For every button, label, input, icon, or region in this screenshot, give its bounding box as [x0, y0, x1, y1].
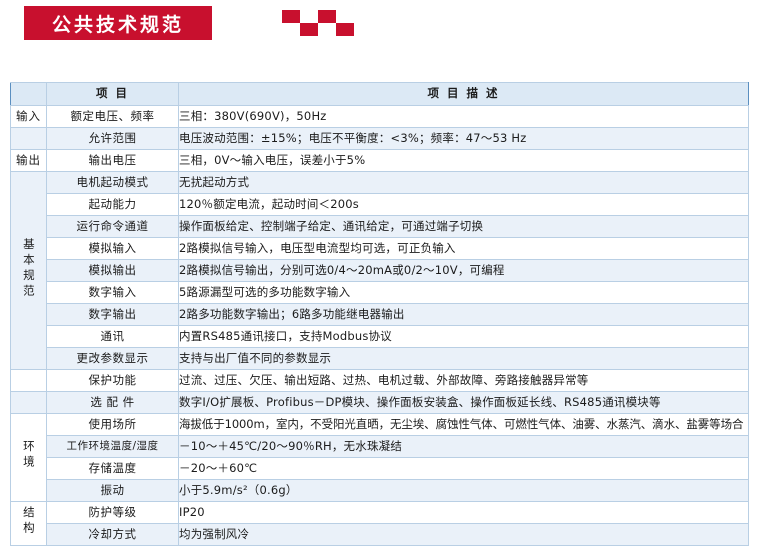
table-row: 输出 输出电压 三相，0V～输入电压，误差小于5% — [11, 150, 749, 172]
desc-cell: 三相：380V(690V)，50Hz — [179, 106, 749, 128]
desc-cell: 操作面板给定、控制端子给定、通讯给定，可通过端子切换 — [179, 216, 749, 238]
desc-cell: 120％额定电流，起动时间＜200s — [179, 194, 749, 216]
decorative-checker-pattern — [282, 10, 354, 36]
desc-cell: 2路模拟信号输出，分别可选0/4～20mA或0/2～10V，可编程 — [179, 260, 749, 282]
table-row: 数字输入 5路源漏型可选的多功能数字输入 — [11, 282, 749, 304]
item-cell: 起动能力 — [47, 194, 179, 216]
desc-cell: 均为强制风冷 — [179, 524, 749, 546]
desc-cell: －20～＋60℃ — [179, 458, 749, 480]
table-row: 基本规范 电机起动模式 无扰起动方式 — [11, 172, 749, 194]
table-row: 选 配 件 数字I/O扩展板、Profibus－DP模块、操作面板安装盒、操作面… — [11, 392, 749, 414]
desc-cell: 小于5.9m/s²（0.6g） — [179, 480, 749, 502]
desc-cell: 海拔低于1000m，室内，不受阳光直晒，无尘埃、腐蚀性气体、可燃性气体、油雾、水… — [179, 414, 749, 436]
header-group — [11, 83, 47, 106]
desc-cell: 5路源漏型可选的多功能数字输入 — [179, 282, 749, 304]
desc-cell: 过流、过压、欠压、输出短路、过热、电机过载、外部故障、旁路接触器异常等 — [179, 370, 749, 392]
desc-cell: －10～＋45℃/20～90％RH，无水珠凝结 — [179, 436, 749, 458]
item-cell: 存储温度 — [47, 458, 179, 480]
item-cell: 输出电压 — [47, 150, 179, 172]
table-row: 数字输出 2路多功能数字输出；6路多功能继电器输出 — [11, 304, 749, 326]
header-desc: 项 目 描 述 — [179, 83, 749, 106]
group-label: 基本规范 — [20, 238, 37, 300]
table-row: 环境 使用场所 海拔低于1000m，室内，不受阳光直晒，无尘埃、腐蚀性气体、可燃… — [11, 414, 749, 436]
desc-cell: 无扰起动方式 — [179, 172, 749, 194]
desc-cell: 2路模拟信号输入，电压型电流型均可选，可正负输入 — [179, 238, 749, 260]
group-label: 输出 — [16, 152, 41, 169]
group-cell-spacer — [11, 370, 47, 392]
item-cell: 允许范围 — [47, 128, 179, 150]
item-cell: 冷却方式 — [47, 524, 179, 546]
group-cell-spacer — [11, 128, 47, 150]
table-row: 保护功能 过流、过压、欠压、输出短路、过热、电机过载、外部故障、旁路接触器异常等 — [11, 370, 749, 392]
table-row: 模拟输出 2路模拟信号输出，分别可选0/4～20mA或0/2～10V，可编程 — [11, 260, 749, 282]
desc-cell: 三相，0V～输入电压，误差小于5% — [179, 150, 749, 172]
table-row: 结构 防护等级 IP20 — [11, 502, 749, 524]
item-cell: 振动 — [47, 480, 179, 502]
table-row: 通讯 内置RS485通讯接口，支持Modbus协议 — [11, 326, 749, 348]
group-cell: 输出 — [11, 150, 47, 172]
item-cell: 模拟输入 — [47, 238, 179, 260]
group-label: 输入 — [16, 108, 41, 125]
group-label: 环境 — [20, 440, 37, 471]
item-cell: 运行命令通道 — [47, 216, 179, 238]
header-item: 项 目 — [47, 83, 179, 106]
item-cell: 选 配 件 — [47, 392, 179, 414]
item-cell: 工作环境温度/湿度 — [47, 436, 179, 458]
desc-cell: 支持与出厂值不同的参数显示 — [179, 348, 749, 370]
table-row: 允许范围 电压波动范围：±15%；电压不平衡度：<3%；频率：47～53 Hz — [11, 128, 749, 150]
item-cell: 额定电压、频率 — [47, 106, 179, 128]
group-cell: 环境 — [11, 414, 47, 502]
spec-table-container: 项 目 项 目 描 述 输入 额定电压、频率 三相：380V(690V)，50H… — [10, 82, 748, 546]
table-row: 运行命令通道 操作面板给定、控制端子给定、通讯给定，可通过端子切换 — [11, 216, 749, 238]
table-row: 起动能力 120％额定电流，起动时间＜200s — [11, 194, 749, 216]
table-header-row: 项 目 项 目 描 述 — [11, 83, 749, 106]
item-cell: 更改参数显示 — [47, 348, 179, 370]
desc-cell: 数字I/O扩展板、Profibus－DP模块、操作面板安装盒、操作面板延长线、R… — [179, 392, 749, 414]
desc-cell: 内置RS485通讯接口，支持Modbus协议 — [179, 326, 749, 348]
item-cell: 通讯 — [47, 326, 179, 348]
table-row: 存储温度 －20～＋60℃ — [11, 458, 749, 480]
table-row: 更改参数显示 支持与出厂值不同的参数显示 — [11, 348, 749, 370]
table-row: 工作环境温度/湿度 －10～＋45℃/20～90％RH，无水珠凝结 — [11, 436, 749, 458]
group-cell: 输入 — [11, 106, 47, 128]
desc-cell: 电压波动范围：±15%；电压不平衡度：<3%；频率：47～53 Hz — [179, 128, 749, 150]
item-cell: 使用场所 — [47, 414, 179, 436]
table-row: 模拟输入 2路模拟信号输入，电压型电流型均可选，可正负输入 — [11, 238, 749, 260]
table-row: 冷却方式 均为强制风冷 — [11, 524, 749, 546]
item-cell: 电机起动模式 — [47, 172, 179, 194]
item-cell: 数字输出 — [47, 304, 179, 326]
page-header: 公共技术规范 — [0, 0, 757, 48]
group-label: 结构 — [20, 506, 37, 537]
title-banner: 公共技术规范 — [24, 6, 212, 40]
group-cell: 基本规范 — [11, 172, 47, 370]
desc-cell: IP20 — [179, 502, 749, 524]
item-cell: 模拟输出 — [47, 260, 179, 282]
item-cell: 防护等级 — [47, 502, 179, 524]
desc-cell: 2路多功能数字输出；6路多功能继电器输出 — [179, 304, 749, 326]
group-cell-spacer — [11, 392, 47, 414]
page-title: 公共技术规范 — [52, 10, 184, 37]
spec-table: 项 目 项 目 描 述 输入 额定电压、频率 三相：380V(690V)，50H… — [10, 82, 749, 546]
item-cell: 保护功能 — [47, 370, 179, 392]
table-body: 输入 额定电压、频率 三相：380V(690V)，50Hz 允许范围 电压波动范… — [11, 106, 749, 546]
item-cell: 数字输入 — [47, 282, 179, 304]
table-row: 振动 小于5.9m/s²（0.6g） — [11, 480, 749, 502]
group-cell: 结构 — [11, 502, 47, 546]
table-row: 输入 额定电压、频率 三相：380V(690V)，50Hz — [11, 106, 749, 128]
